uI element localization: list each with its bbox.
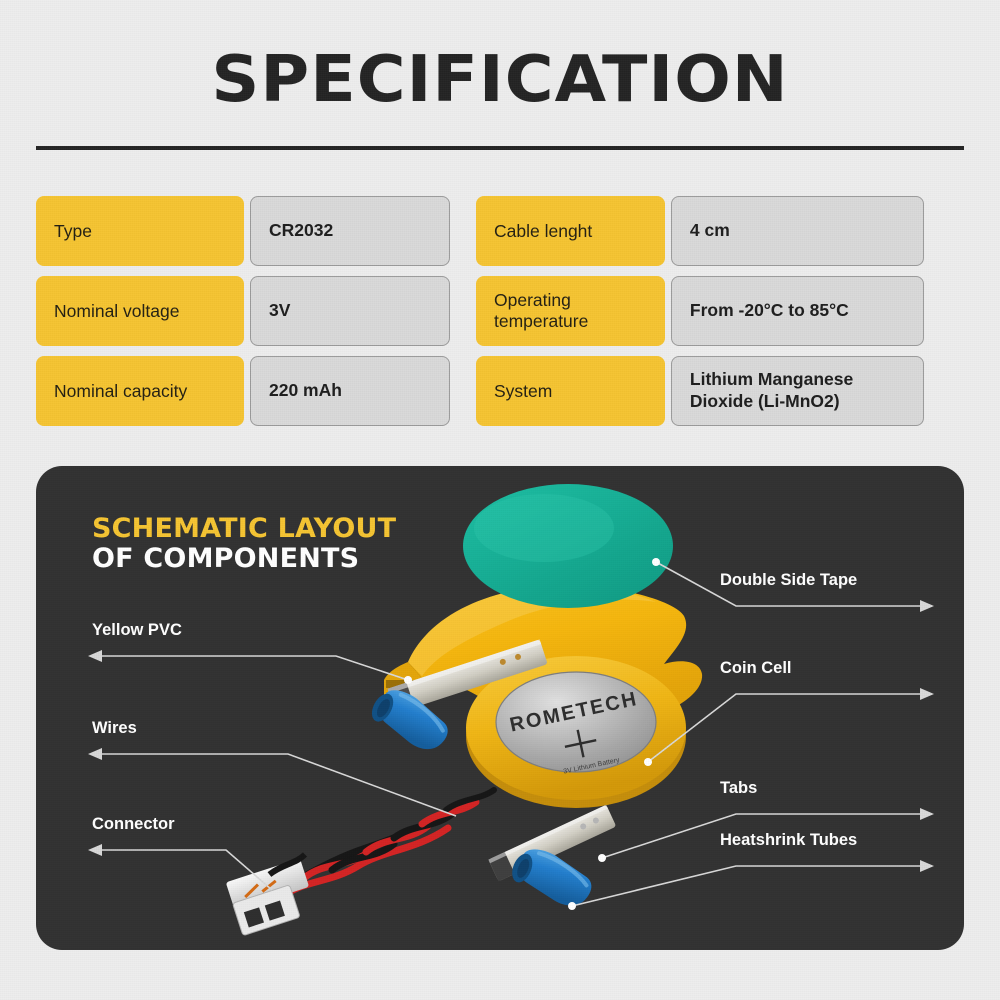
page-title: SPECIFICATION — [0, 48, 1000, 112]
spec-key: Type — [36, 196, 244, 266]
spec-value: 220 mAh — [250, 356, 450, 426]
callout-label-connector: Connector — [92, 815, 175, 834]
callout-label-coin-cell: Coin Cell — [720, 659, 792, 678]
spec-key: Nominal capacity — [36, 356, 244, 426]
infographic-root: SPECIFICATION Type CR2032 Nominal voltag… — [0, 0, 1000, 1000]
spec-key: Nominal voltage — [36, 276, 244, 346]
spec-row: Type CR2032 — [36, 196, 484, 266]
schematic-heading-line1: SCHEMATIC LAYOUT — [92, 514, 396, 544]
spec-column-left: Type CR2032 Nominal voltage 3V Nominal c… — [36, 196, 484, 436]
schematic-heading-line2: OF COMPONENTS — [92, 544, 396, 574]
spec-row: Nominal voltage 3V — [36, 276, 484, 346]
callout-label-double-side-tape: Double Side Tape — [720, 571, 857, 590]
spec-key: Operating temperature — [476, 276, 665, 346]
spec-value: Lithium Manganese Dioxide (Li-MnO2) — [671, 356, 924, 426]
spec-key: System — [476, 356, 665, 426]
spec-column-right: Cable lenght 4 cm Operating temperature … — [476, 196, 924, 436]
schematic-heading: SCHEMATIC LAYOUT OF COMPONENTS — [92, 514, 396, 574]
spec-value: CR2032 — [250, 196, 450, 266]
schematic-panel: ROMETECH 3V Lithium Battery — [36, 466, 964, 950]
callout-label-tabs: Tabs — [720, 779, 757, 798]
callout-label-wires: Wires — [92, 719, 137, 738]
callout-label-heatshrink-tubes: Heatshrink Tubes — [720, 831, 857, 850]
spec-value: From -20°C to 85°C — [671, 276, 924, 346]
spec-row: Cable lenght 4 cm — [476, 196, 924, 266]
spec-key: Cable lenght — [476, 196, 665, 266]
spec-row: Operating temperature From -20°C to 85°C — [476, 276, 924, 346]
spec-value: 3V — [250, 276, 450, 346]
header-divider — [36, 146, 964, 150]
spec-row: Nominal capacity 220 mAh — [36, 356, 484, 426]
spec-row: System Lithium Manganese Dioxide (Li-MnO… — [476, 356, 924, 426]
callout-label-yellow-pvc: Yellow PVC — [92, 621, 182, 640]
spec-value: 4 cm — [671, 196, 924, 266]
